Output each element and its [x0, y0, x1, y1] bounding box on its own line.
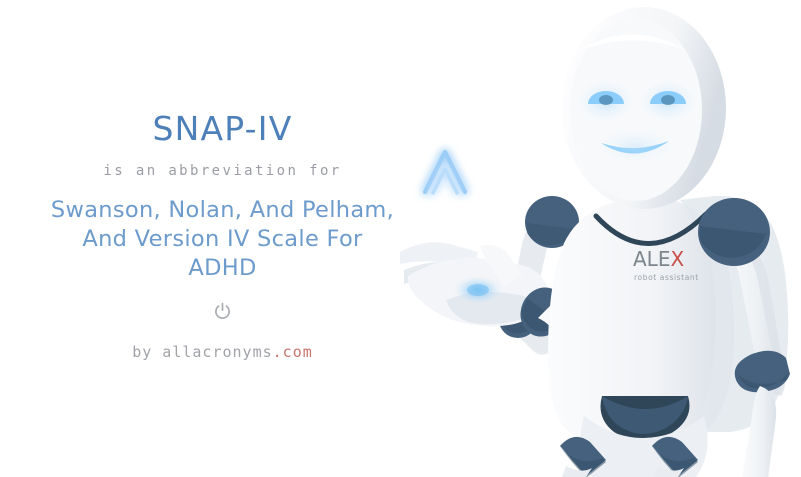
byline-prefix: by allacronyms — [132, 343, 272, 361]
robot-illustration: ALEX robot assistant — [380, 0, 801, 477]
expansion-line-1: Swanson, Nolan, And Pelham, — [0, 196, 445, 225]
acronym-expansion: Swanson, Nolan, And Pelham, And Version … — [0, 196, 445, 283]
expansion-line-2: And Version IV Scale For — [0, 225, 445, 254]
robot-svg: ALEX robot assistant — [380, 0, 801, 477]
page-title: SNAP-IV — [0, 112, 445, 145]
chest-brand-text: ALEX — [633, 247, 684, 271]
expansion-line-3: ADHD — [0, 254, 445, 283]
power-icon — [214, 302, 231, 321]
chest-tagline-text: robot assistant — [634, 273, 699, 282]
chest-brand-accent: X — [670, 247, 684, 271]
abbreviation-label: is an abbreviation for — [0, 163, 445, 179]
byline-domain: .com — [273, 343, 313, 361]
byline[interactable]: by allacronyms.com — [0, 343, 445, 361]
text-column: SNAP-IV is an abbreviation for Swanson, … — [0, 0, 445, 477]
acronym-card: SNAP-IV is an abbreviation for Swanson, … — [0, 0, 801, 477]
power-icon-container — [0, 300, 445, 322]
robot-head — [562, 7, 726, 209]
